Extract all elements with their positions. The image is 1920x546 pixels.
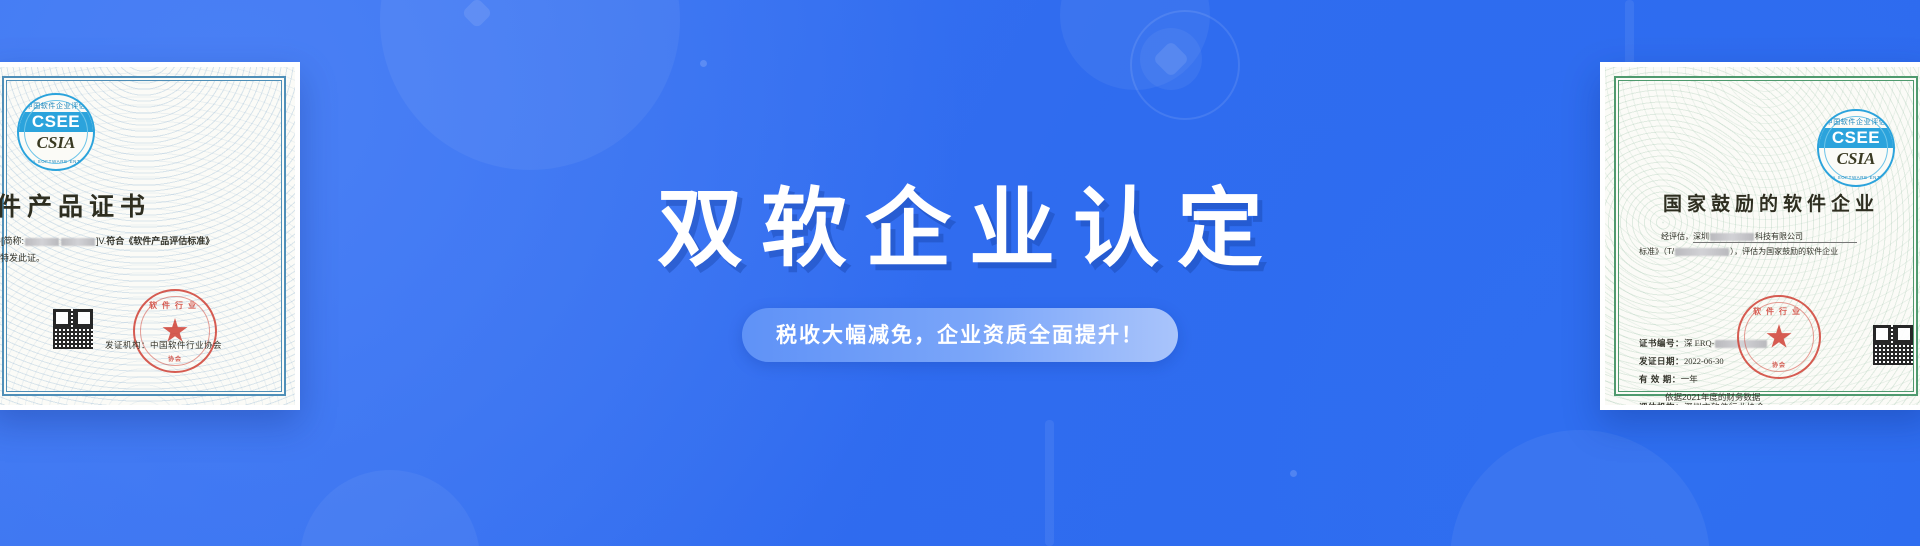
banner-sub-badge[interactable]: 税收大幅减免，企业资质全面提升！ xyxy=(742,308,1178,362)
banner-headline: 双软企业认定 xyxy=(639,184,1281,274)
banner-center-content: 双软企业认定 税收大幅减免，企业资质全面提升！ xyxy=(0,0,1920,546)
promo-banner: 中国软件企业评估 CSEE CSIA CHINA SOFTWARE ENTERP… xyxy=(0,0,1920,546)
